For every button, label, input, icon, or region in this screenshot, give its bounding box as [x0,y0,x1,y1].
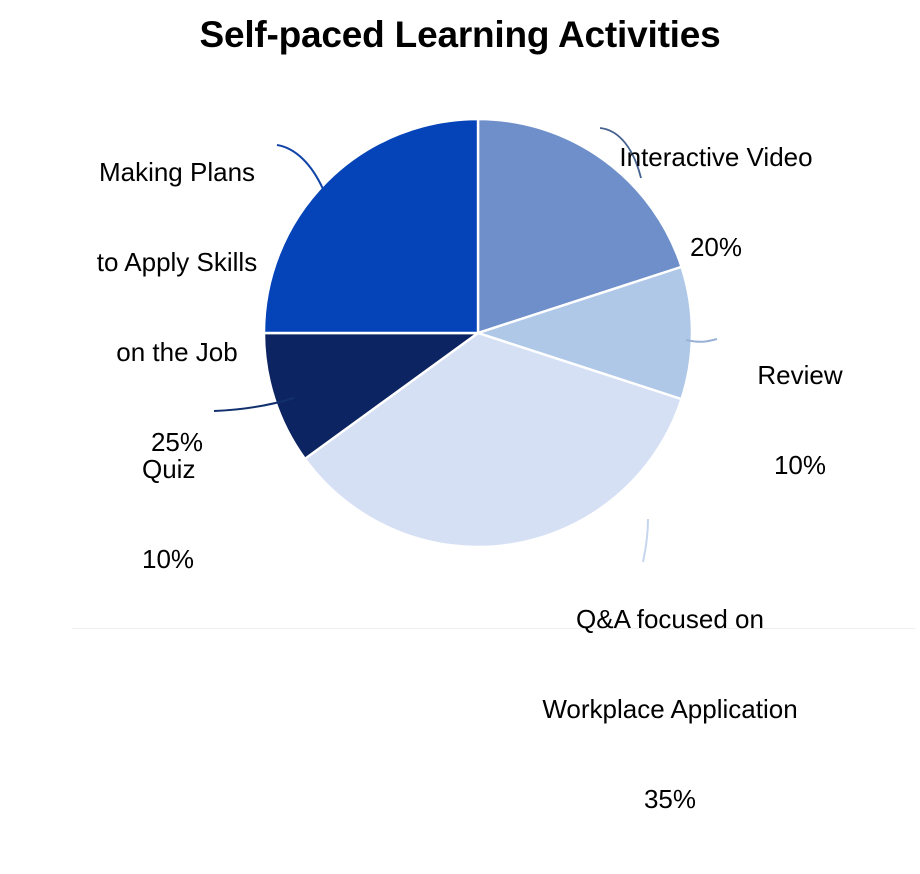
pie-label-qa-workplace-application: Q&A focused on Workplace Application 35% [500,544,840,874]
pie-label-making-plans-value: 25% [62,427,292,457]
pie-label-qa-line1: Q&A focused on [500,604,840,634]
pie-label-review-name: Review [700,360,900,390]
pie-label-qa-value: 35% [500,784,840,814]
pie-label-interactive-video: Interactive Video 20% [596,82,836,322]
pie-label-interactive-video-name: Interactive Video [596,142,836,172]
pie-label-making-plans-line3: on the Job [62,337,292,367]
pie-label-making-plans: Making Plans to Apply Skills on the Job … [62,97,292,517]
chart-canvas: Self-paced Learning Activities Interacti… [0,0,920,655]
pie-label-quiz-value: 10% [142,544,342,574]
pie-label-review: Review 10% [700,300,900,540]
pie-label-interactive-video-value: 20% [596,232,836,262]
pie-label-qa-line2: Workplace Application [500,694,840,724]
pie-label-making-plans-line2: to Apply Skills [62,247,292,277]
pie-slice-making-plans[interactable] [264,119,478,333]
pie-label-making-plans-line1: Making Plans [62,157,292,187]
pie-label-review-value: 10% [700,450,900,480]
